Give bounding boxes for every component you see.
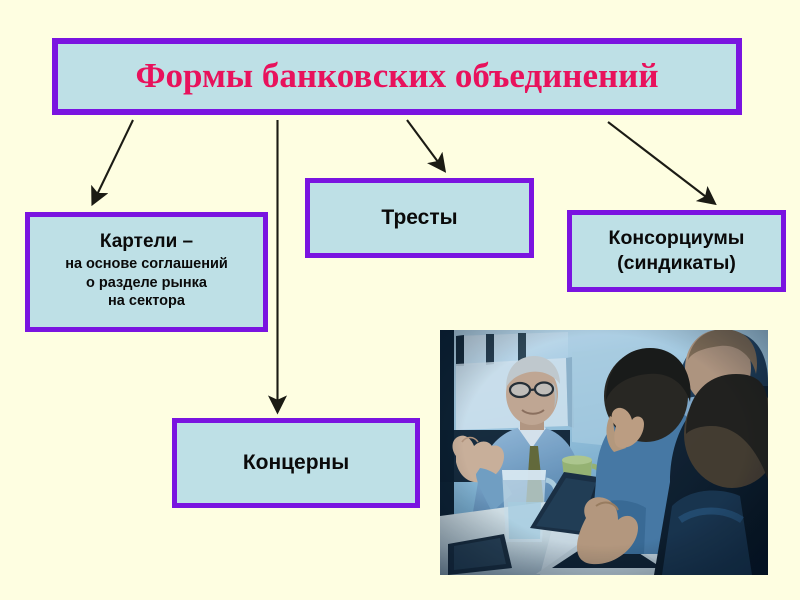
business-meeting-photo (440, 330, 768, 575)
photo-illustration (440, 330, 768, 575)
koncern-label: Концерны (243, 451, 349, 475)
arrow-title-to-konsorcium (608, 122, 714, 203)
arrow-title-to-kartel (93, 120, 133, 203)
konsorcium-label-line-1: Консорциумы (609, 226, 745, 251)
kartel-line-1: на основе соглашений (65, 255, 228, 274)
konsorcium-label-line-2: (синдикаты) (617, 251, 736, 276)
page-title: Формы банковских объединений (135, 58, 658, 95)
node-box-koncern: Концерны (172, 418, 420, 508)
node-box-tresty: Тресты (305, 178, 534, 258)
node-box-kartel: Картели – на основе соглашений о разделе… (25, 212, 268, 332)
kartel-line-2: о разделе рынка (86, 274, 207, 293)
tresty-label: Тресты (381, 206, 457, 230)
node-box-konsorcium: Консорциумы (синдикаты) (567, 210, 786, 292)
title-box: Формы банковских объединений (52, 38, 742, 115)
arrow-title-to-tresty (407, 120, 444, 170)
kartel-heading: Картели – (100, 231, 193, 253)
slide-canvas: Формы банковских объединений Картели – н… (0, 0, 800, 600)
kartel-line-3: на сектора (108, 292, 185, 311)
